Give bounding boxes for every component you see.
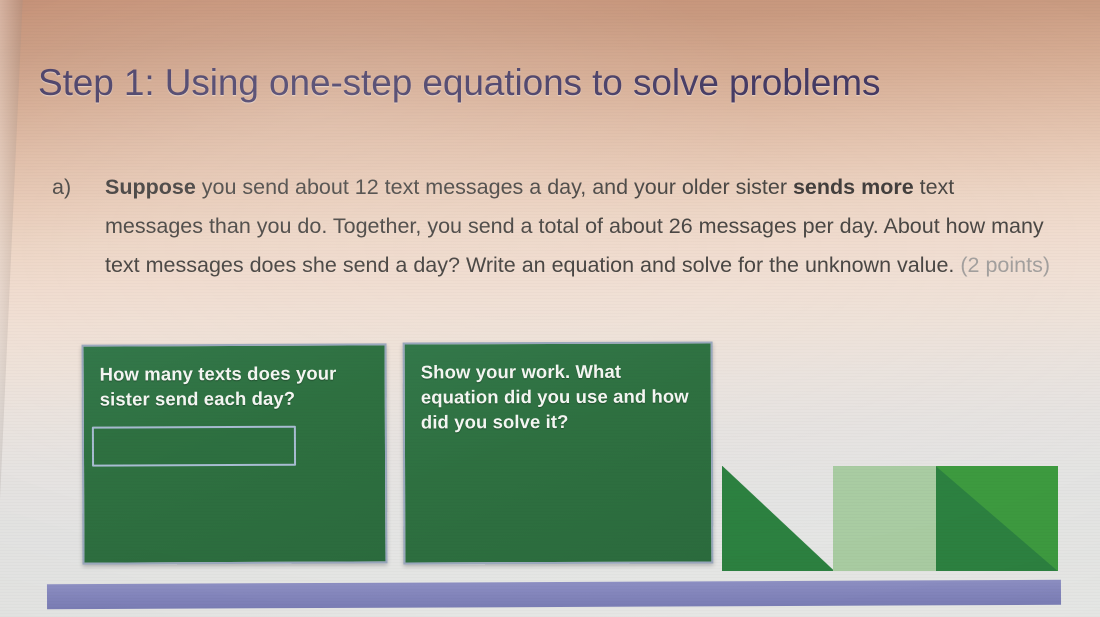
answer-box-sister-texts[interactable]: How many texts does your sister send eac… [82,343,388,564]
question-text-emphasis-lead: Suppose [105,175,196,199]
decorative-square-upper-triangle [936,466,1058,571]
decorative-triangle [722,466,834,571]
question-text-emphasis: sends more [793,175,914,199]
answer-box-prompt: Show your work. What equation did you us… [421,359,697,435]
answer-box-show-work[interactable]: Show your work. What equation did you us… [403,341,714,564]
decorative-rectangle [833,466,937,571]
question-text-segment-1: you send about 12 text messages a day, a… [196,175,793,199]
page-title: Step 1: Using one-step equations to solv… [38,62,880,104]
question-letter: a) [52,168,100,207]
answer-input-field[interactable] [92,426,296,467]
answer-box-prompt: How many texts does your sister send eac… [100,360,371,411]
points-label: (2 points) [960,253,1050,277]
question-text: Suppose you send about 12 text messages … [105,168,1052,285]
screen-bezel-edge [0,0,24,617]
decorative-split-square [936,466,1058,571]
bottom-accent-bar [47,580,1061,609]
question-block: a) Suppose you send about 12 text messag… [52,168,1052,285]
slide-screen: Step 1: Using one-step equations to solv… [0,0,1100,617]
